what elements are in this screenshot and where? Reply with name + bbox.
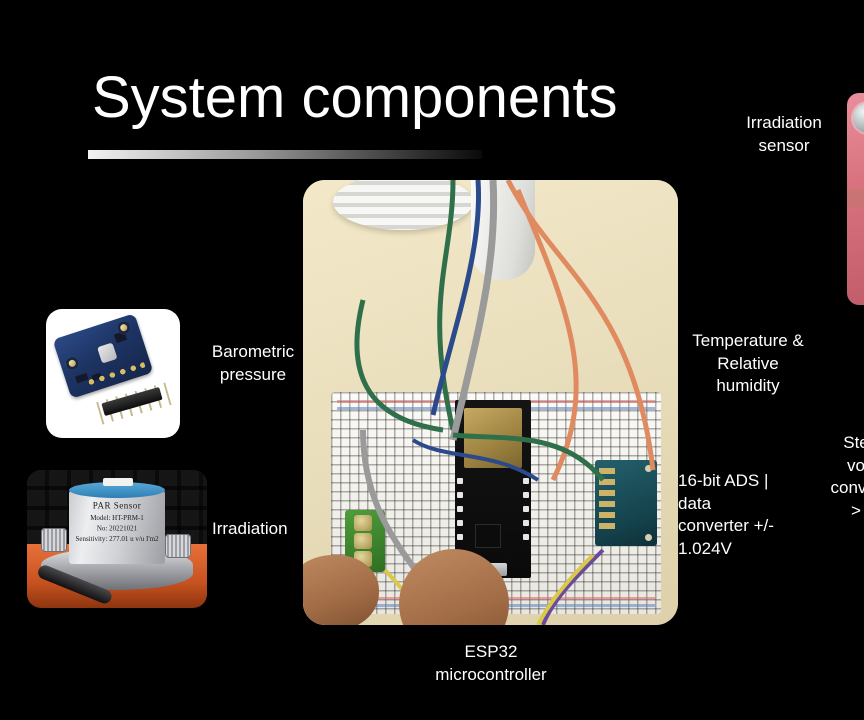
label-esp32-line2: microcontroller bbox=[420, 664, 562, 687]
par-white-tab bbox=[103, 478, 133, 486]
par-text-model: Model: HT-PRM-1 bbox=[74, 513, 160, 524]
title-underline-rule bbox=[88, 150, 482, 159]
label-irradiation-sensor-line1: Irradiation bbox=[713, 112, 855, 135]
label-temperature-humidity: Temperature & Relative humidity bbox=[678, 330, 818, 398]
label-temperature-humidity-line1: Temperature & bbox=[678, 330, 818, 353]
par-knob-left bbox=[41, 528, 67, 552]
presentation-slide: System components Irradiation sensor Bar… bbox=[0, 0, 864, 720]
barometric-sensor-chip bbox=[97, 342, 117, 363]
photo-barometric-pressure-sensor bbox=[46, 309, 180, 438]
label-stepdown-voltage-converter: Ste vo conver > bbox=[800, 432, 864, 522]
hand-finger bbox=[303, 555, 379, 625]
jumper-wires-overlay bbox=[303, 180, 678, 625]
label-barometric-pressure-line2: pressure bbox=[186, 364, 320, 387]
label-temperature-humidity-line3: humidity bbox=[678, 375, 818, 398]
par-sensor-engraved-text: PAR Sensor Model: HT-PRM-1 No: 20221021 … bbox=[74, 499, 160, 545]
par-knob-right bbox=[165, 534, 191, 558]
par-text-no: No: 20221021 bbox=[74, 523, 160, 534]
label-irradiation-sensor-line2: sensor bbox=[713, 135, 855, 158]
label-esp32-microcontroller: ESP32 microcontroller bbox=[420, 641, 562, 686]
label-barometric-pressure-line1: Barometric bbox=[186, 341, 320, 364]
label-irradiation-sensor: Irradiation sensor bbox=[713, 112, 855, 157]
par-text-sensitivity: Sensitivity: 277.01 u v/u I'm2 bbox=[74, 534, 160, 545]
photo-esp32-breadboard-assembly bbox=[303, 180, 678, 625]
wire-green bbox=[440, 180, 453, 430]
page-title: System components bbox=[92, 68, 617, 129]
label-stepdown-line2: vo bbox=[800, 455, 864, 478]
label-stepdown-line3: conver bbox=[800, 477, 864, 500]
pyranometer-band bbox=[847, 189, 864, 207]
label-adc-converter: 16-bit ADS | data converter +/- 1.024V bbox=[678, 470, 782, 560]
label-esp32-line1: ESP32 bbox=[420, 641, 562, 664]
wire-gray bbox=[363, 430, 423, 580]
label-stepdown-line4: > bbox=[800, 500, 864, 523]
wire-orange bbox=[518, 190, 576, 480]
label-temperature-humidity-line2: Relative bbox=[678, 353, 818, 376]
wire-green bbox=[357, 300, 443, 430]
wire-blue bbox=[413, 440, 538, 480]
wire-purple bbox=[543, 550, 603, 625]
photo-par-irradiation-sensor: PAR Sensor Model: HT-PRM-1 No: 20221021 … bbox=[27, 470, 207, 608]
par-text-title: PAR Sensor bbox=[74, 499, 160, 513]
label-stepdown-line1: Ste bbox=[800, 432, 864, 455]
label-barometric-pressure: Barometric pressure bbox=[186, 341, 320, 386]
smd-component bbox=[114, 331, 127, 343]
